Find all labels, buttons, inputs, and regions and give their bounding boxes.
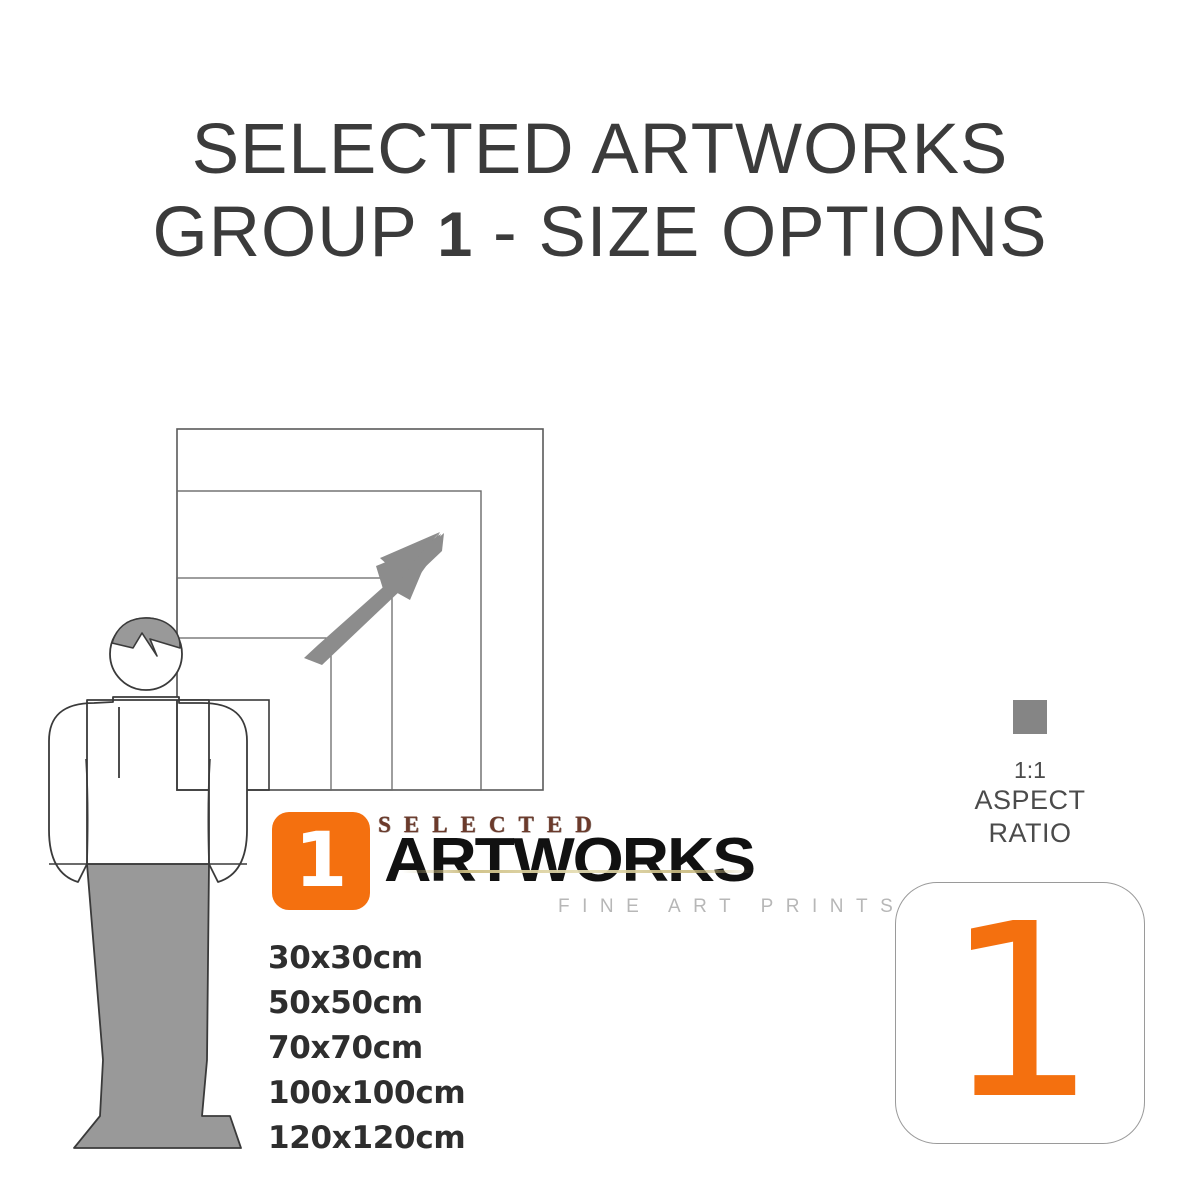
- aspect-ratio-swatch-icon: [1013, 700, 1047, 734]
- size-options-list: 30x30cm 50x50cm 70x70cm 100x100cm 120x12…: [268, 936, 465, 1161]
- figure-lower-body: [74, 864, 241, 1148]
- title-line-2: GROUP 1 - SIZE OPTIONS: [0, 191, 1200, 277]
- group-tile-number: 1: [896, 883, 1146, 1145]
- square-120x120: [177, 429, 543, 790]
- aspect-ratio-legend: 1:1 ASPECT RATIO: [938, 700, 1122, 850]
- square-30x30: [177, 700, 269, 790]
- aspect-label-line1: ASPECT: [938, 784, 1122, 817]
- brand-tagline-text: FINE ART PRINTS: [558, 896, 905, 918]
- growth-arrow-icon: [304, 532, 444, 665]
- size-option: 50x50cm: [268, 981, 465, 1026]
- size-option: 120x120cm: [268, 1116, 465, 1161]
- brand-wordmark: SELECTED ARTWORKS FINE ART PRINTS: [378, 808, 838, 932]
- title-group-prefix: GROUP: [152, 193, 437, 272]
- brand-logo: 1 SELECTED ARTWORKS FINE ART PRINTS: [272, 812, 832, 932]
- title-group-number: 1: [437, 200, 472, 270]
- size-option: 100x100cm: [268, 1071, 465, 1116]
- page-title: SELECTED ARTWORKS GROUP 1 - SIZE OPTIONS: [0, 108, 1200, 277]
- square-50x50: [177, 638, 331, 790]
- figure-torso: [49, 697, 247, 882]
- aspect-label-line2: RATIO: [938, 817, 1122, 850]
- title-line-1: SELECTED ARTWORKS: [0, 108, 1200, 191]
- size-option: 30x30cm: [268, 936, 465, 981]
- brand-artworks-text: ARTWORKS: [384, 828, 754, 894]
- brand-distress-streak: [402, 870, 752, 873]
- square-70x70: [177, 578, 392, 790]
- square-100x100: [177, 491, 481, 790]
- group-number-badge: 1: [272, 812, 370, 910]
- title-dash: -: [472, 193, 538, 272]
- figure-head: [110, 618, 182, 690]
- figure-hair: [112, 618, 180, 656]
- figure-seam-left: [86, 759, 88, 864]
- size-option: 70x70cm: [268, 1026, 465, 1071]
- title-size-options: SIZE OPTIONS: [538, 193, 1047, 272]
- figure-seam-right: [208, 759, 210, 864]
- group-tile: 1: [895, 882, 1145, 1144]
- aspect-ratio-value: 1:1: [938, 756, 1122, 784]
